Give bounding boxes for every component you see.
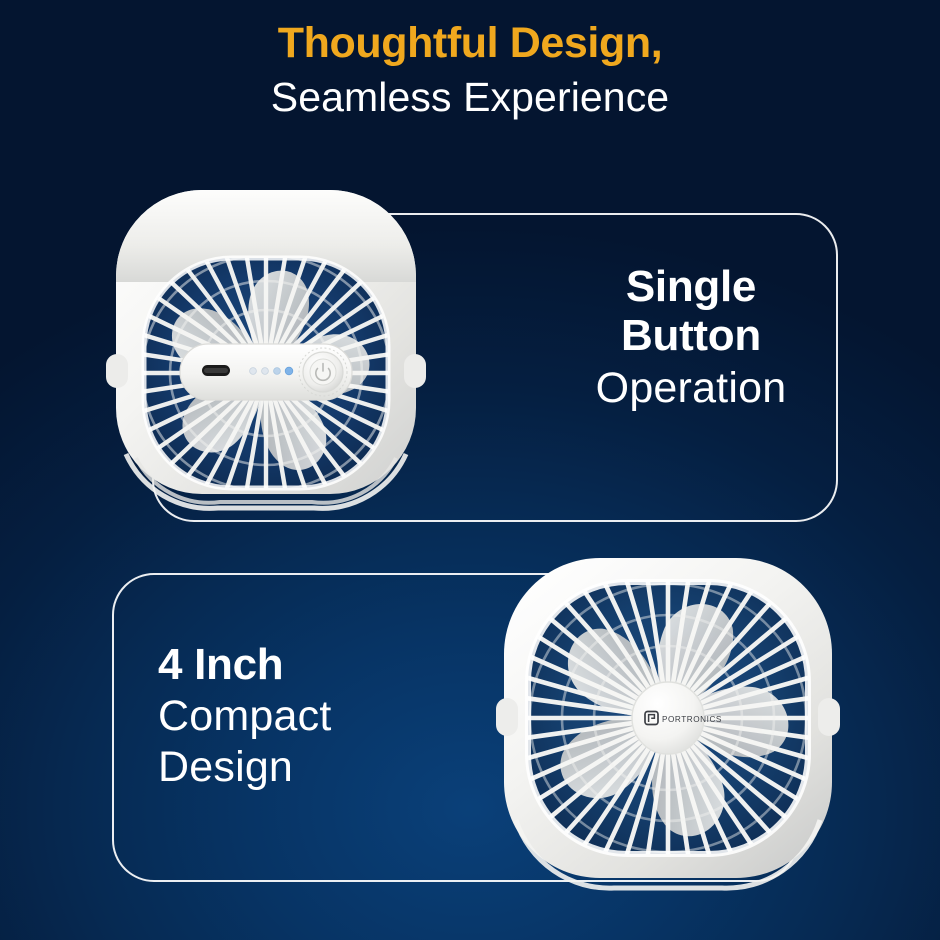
control-bar [180,344,352,400]
product-image-fan-front-with-logo: PORTRONICS [496,548,840,896]
feature-title: 4 Inch [158,640,498,689]
headline-line-1: Thoughtful Design, [0,22,940,65]
product-image-fan-front-with-controls [104,186,428,516]
fan-pivot-knob-left [106,354,128,388]
led-indicator-2 [262,368,269,375]
feature-title-line-1: Single [526,262,856,311]
led-indicator-4-active [285,367,293,375]
product-feature-poster: Thoughtful Design, Seamless Experience S… [0,0,940,940]
led-indicator-3 [274,368,281,375]
headline: Thoughtful Design, Seamless Experience [0,22,940,118]
fan-pivot-knob-left [496,698,518,736]
feature-text-compact-design: 4 Inch Compact Design [158,640,498,792]
fan-pivot-knob-right [404,354,426,388]
feature-title-line-2: Button [526,311,856,360]
headline-line-2: Seamless Experience [0,77,940,118]
feature-text-single-button: Single Button Operation [526,262,856,412]
feature-subtitle-line-2: Design [158,743,498,791]
brand-name: PORTRONICS [662,715,722,724]
feature-subtitle-line-1: Compact [158,692,498,740]
fan-pivot-knob-right [818,698,840,736]
feature-subtitle: Operation [526,364,856,412]
led-indicator-1 [250,368,257,375]
